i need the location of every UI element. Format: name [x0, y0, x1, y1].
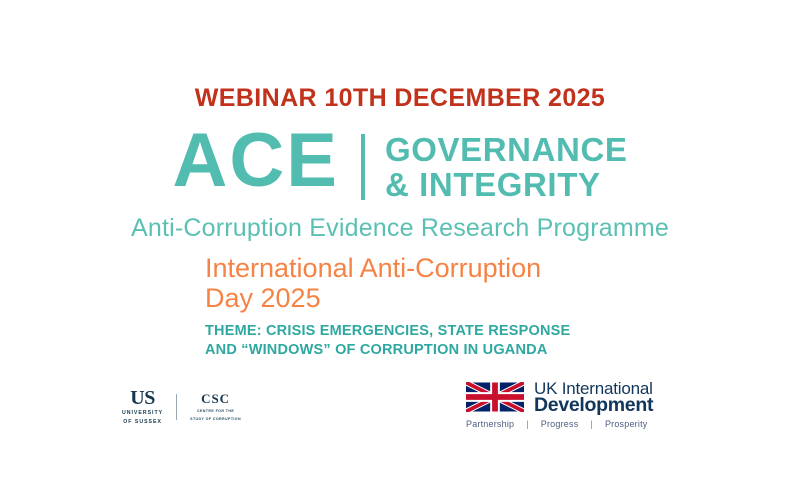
ukid-tagline-partnership: Partnership [466, 419, 514, 429]
sussex-name-line2: OF SUSSEX [122, 419, 163, 426]
csc-logo: CSC CENTRE FOR THE STUDY OF CORRUPTION [190, 392, 241, 421]
partner-logo-divider [176, 394, 177, 420]
ace-programme-tagline: Anti-Corruption Evidence Research Progra… [0, 214, 800, 243]
footer-logos: US UNIVERSITY OF SUSSEX CSC CENTRE FOR T… [0, 380, 800, 440]
event-title-line1: International Anti-Corruption [205, 253, 541, 283]
ace-logo-subtitle-block: GOVERNANCE & INTEGRITY [385, 130, 628, 202]
ukid-tagline: Partnership | Progress | Prosperity [466, 419, 653, 429]
webinar-date-header: WEBINAR 10TH DECEMBER 2025 [0, 84, 800, 113]
logo-divider [361, 134, 365, 200]
uk-international-development-logo: UK International Development Partnership… [466, 380, 653, 429]
event-theme: THEME: CRISIS EMERGENCIES, STATE RESPONS… [205, 322, 570, 360]
ace-logo-lockup: ACE GOVERNANCE & INTEGRITY [0, 130, 800, 202]
webinar-promo-banner: WEBINAR 10TH DECEMBER 2025 ACE GOVERNANC… [0, 0, 800, 500]
ace-logo-governance-line: GOVERNANCE [385, 132, 628, 167]
csc-name-line2: STUDY OF CORRUPTION [190, 417, 241, 422]
ukid-tagline-prosperity: Prosperity [605, 419, 648, 429]
ace-logo-integrity-line: & INTEGRITY [385, 167, 628, 202]
sussex-monogram: US [122, 388, 163, 408]
event-theme-line1: THEME: CRISIS EMERGENCIES, STATE RESPONS… [205, 322, 570, 341]
university-of-sussex-logo: US UNIVERSITY OF SUSSEX [122, 388, 163, 425]
event-title-line2: Day 2025 [205, 283, 541, 313]
union-jack-flag-icon [466, 382, 524, 412]
sussex-name-line1: UNIVERSITY [122, 410, 163, 417]
ukid-tagline-separator-1: | [526, 419, 529, 429]
ukid-wordmark: UK International Development [534, 380, 653, 414]
csc-monogram: CSC [190, 392, 241, 406]
event-title: International Anti-Corruption Day 2025 [205, 253, 541, 313]
ukid-tagline-progress: Progress [541, 419, 579, 429]
event-theme-line2: AND “WINDOWS” OF CORRUPTION IN UGANDA [205, 341, 570, 360]
ukid-line2: Development [534, 397, 653, 414]
csc-name-line1: CENTRE FOR THE [190, 409, 241, 414]
ukid-main-row: UK International Development [466, 380, 653, 414]
ace-acronym: ACE [173, 126, 339, 196]
ukid-tagline-separator-2: | [590, 419, 593, 429]
sussex-csc-logo-group: US UNIVERSITY OF SUSSEX CSC CENTRE FOR T… [122, 388, 241, 425]
